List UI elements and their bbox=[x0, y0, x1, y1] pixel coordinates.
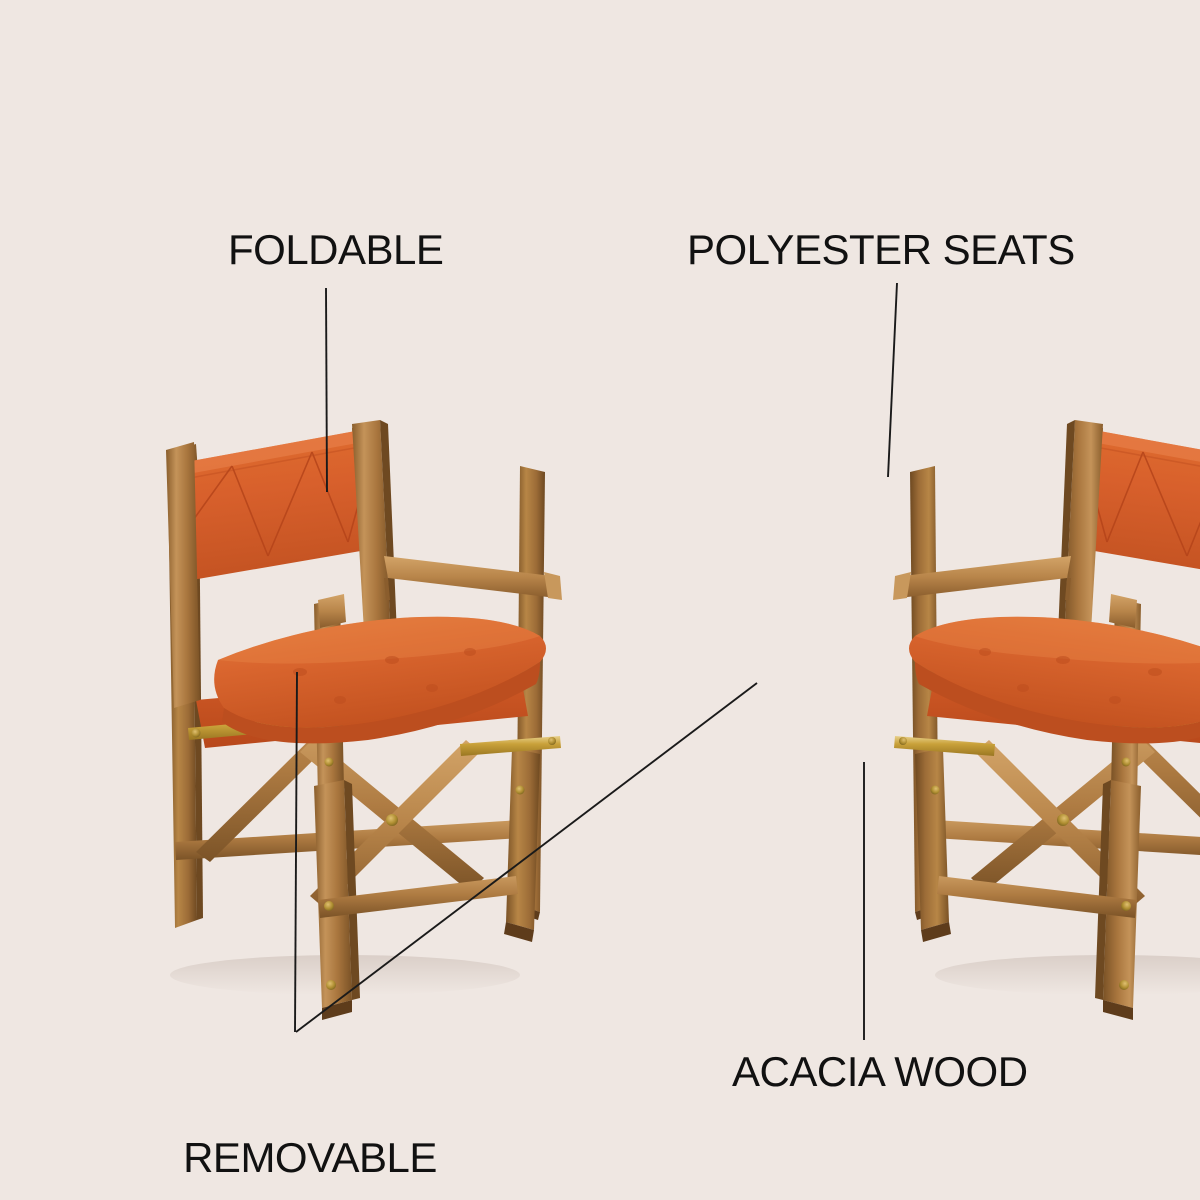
callout-label-polyester-seats: POLYESTER SEATS bbox=[687, 228, 1075, 273]
callout-label-removable-cushions: REMOVABLE CUSHIONS INCLUDED bbox=[110, 1047, 510, 1200]
scene-illustration bbox=[0, 0, 1200, 1200]
callout-label-removable-cushions-line1: REMOVABLE bbox=[110, 1136, 510, 1181]
callout-label-foldable: FOLDABLE bbox=[228, 228, 443, 273]
callout-label-acacia-wood: ACACIA WOOD bbox=[732, 1050, 1028, 1095]
leader-line-foldable bbox=[326, 288, 327, 492]
product-callout-image: FOLDABLE POLYESTER SEATS REMOVABLE CUSHI… bbox=[0, 0, 1200, 1200]
